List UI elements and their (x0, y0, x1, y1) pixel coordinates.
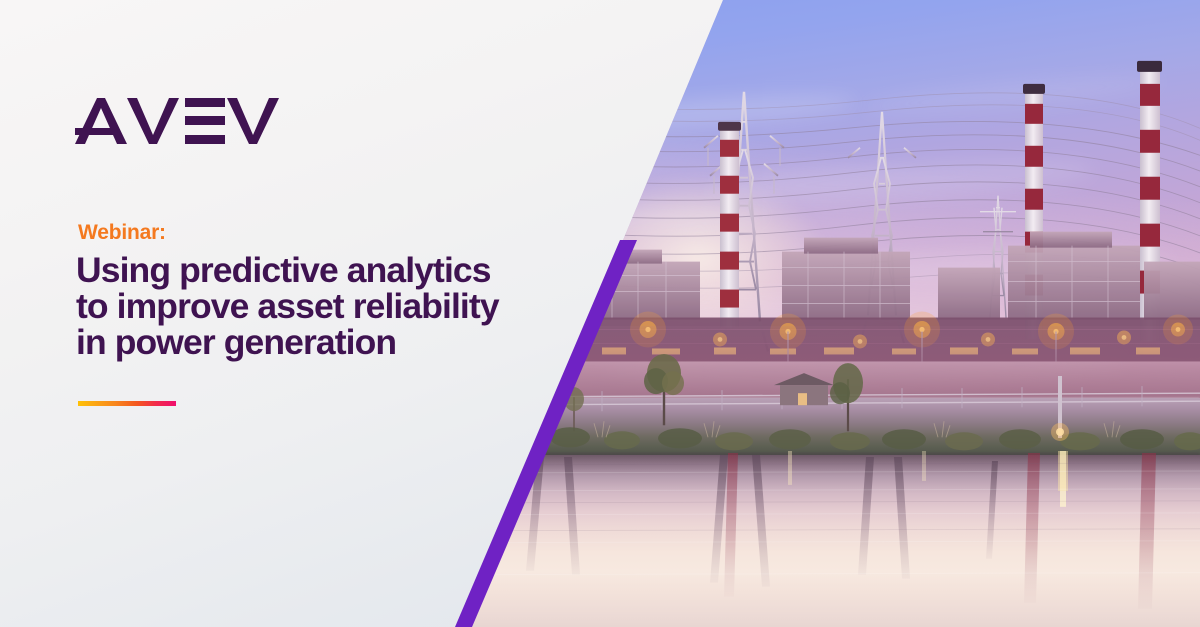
webinar-banner: Webinar: Using predictive analytics to i… (0, 0, 1200, 627)
waterside-pole-svg (452, 376, 1200, 627)
headline-line-2: to improve asset reliability (76, 288, 546, 324)
headline-line-1: Using predictive analytics (76, 252, 546, 288)
headline-line-3: in power generation (76, 324, 546, 360)
page-title: Using predictive analytics to improve as… (76, 252, 546, 360)
smokestack (718, 122, 741, 328)
kicker-label: Webinar: (78, 221, 166, 245)
aveva-logo[interactable] (75, 98, 280, 149)
accent-bar (78, 401, 176, 406)
aveva-logo-mark (75, 98, 280, 144)
